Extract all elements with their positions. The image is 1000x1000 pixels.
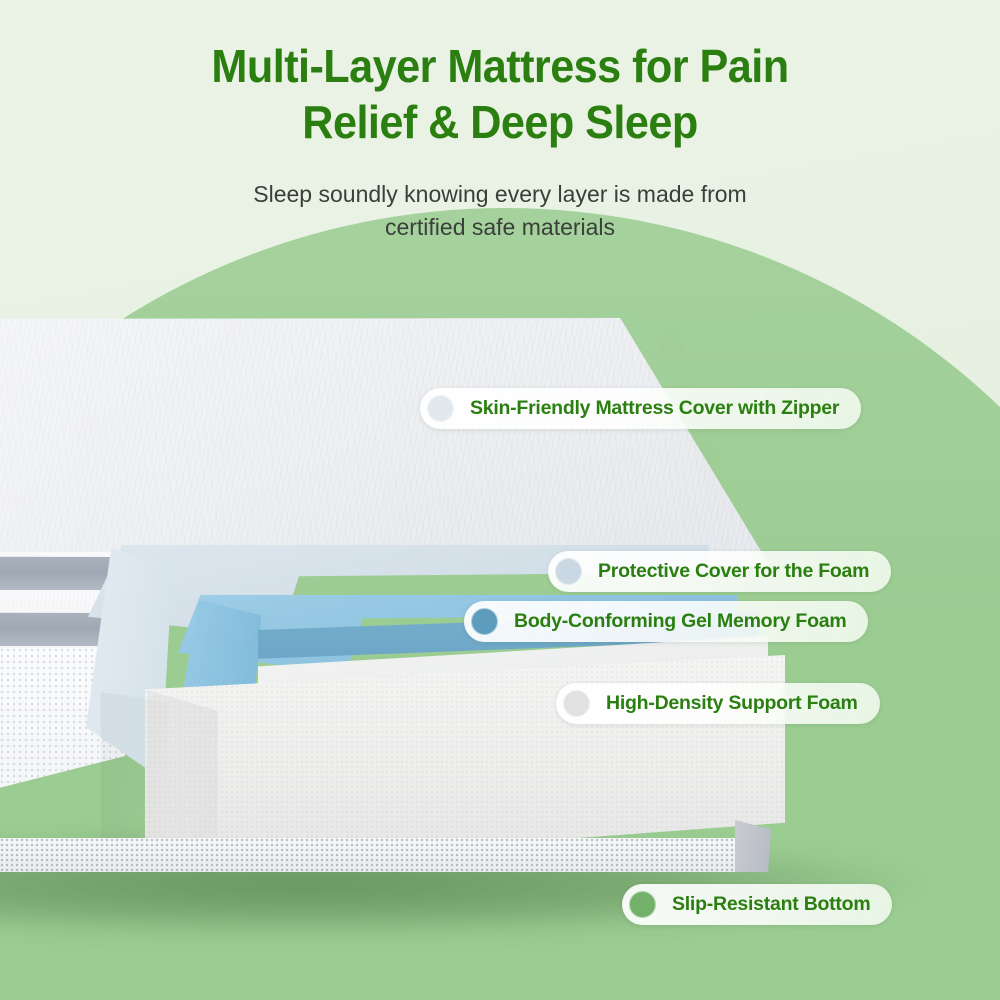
page-title: Multi-Layer Mattress for Pain Relief & D… <box>30 38 970 150</box>
page-subtitle-line-1: Sleep soundly knowing every layer is mad… <box>253 181 746 207</box>
layer-marker-dot-icon <box>563 690 590 717</box>
callout-skin-friendly-cover[interactable]: Skin-Friendly Mattress Cover with Zipper <box>420 388 861 429</box>
callout-label: Skin-Friendly Mattress Cover with Zipper <box>470 397 839 420</box>
layer-marker-dot-icon <box>427 395 454 422</box>
layer-marker-dot-icon <box>555 558 582 585</box>
callout-label: Slip-Resistant Bottom <box>672 893 870 916</box>
page-subtitle: Sleep soundly knowing every layer is mad… <box>0 178 1000 243</box>
page-title-line-2: Relief & Deep Sleep <box>30 94 970 150</box>
page-title-line-1: Multi-Layer Mattress for Pain <box>211 40 788 92</box>
callout-label: High-Density Support Foam <box>606 692 858 715</box>
page-subtitle-line-2: certified safe materials <box>0 211 1000 244</box>
callout-gel-memory-foam[interactable]: Body-Conforming Gel Memory Foam <box>464 601 868 642</box>
slip-resistant-bottom-layer <box>0 838 768 872</box>
callout-protective-cover[interactable]: Protective Cover for the Foam <box>548 551 891 592</box>
mattress-cover-stripe-1 <box>0 556 120 590</box>
callout-high-density-support-foam[interactable]: High-Density Support Foam <box>556 683 880 724</box>
callout-label: Protective Cover for the Foam <box>598 560 869 583</box>
callout-label: Body-Conforming Gel Memory Foam <box>514 610 846 633</box>
callout-slip-resistant-bottom[interactable]: Slip-Resistant Bottom <box>622 884 892 925</box>
layer-marker-dot-icon <box>471 608 498 635</box>
layer-marker-dot-icon <box>629 891 656 918</box>
infographic-canvas: Multi-Layer Mattress for Pain Relief & D… <box>0 0 1000 1000</box>
